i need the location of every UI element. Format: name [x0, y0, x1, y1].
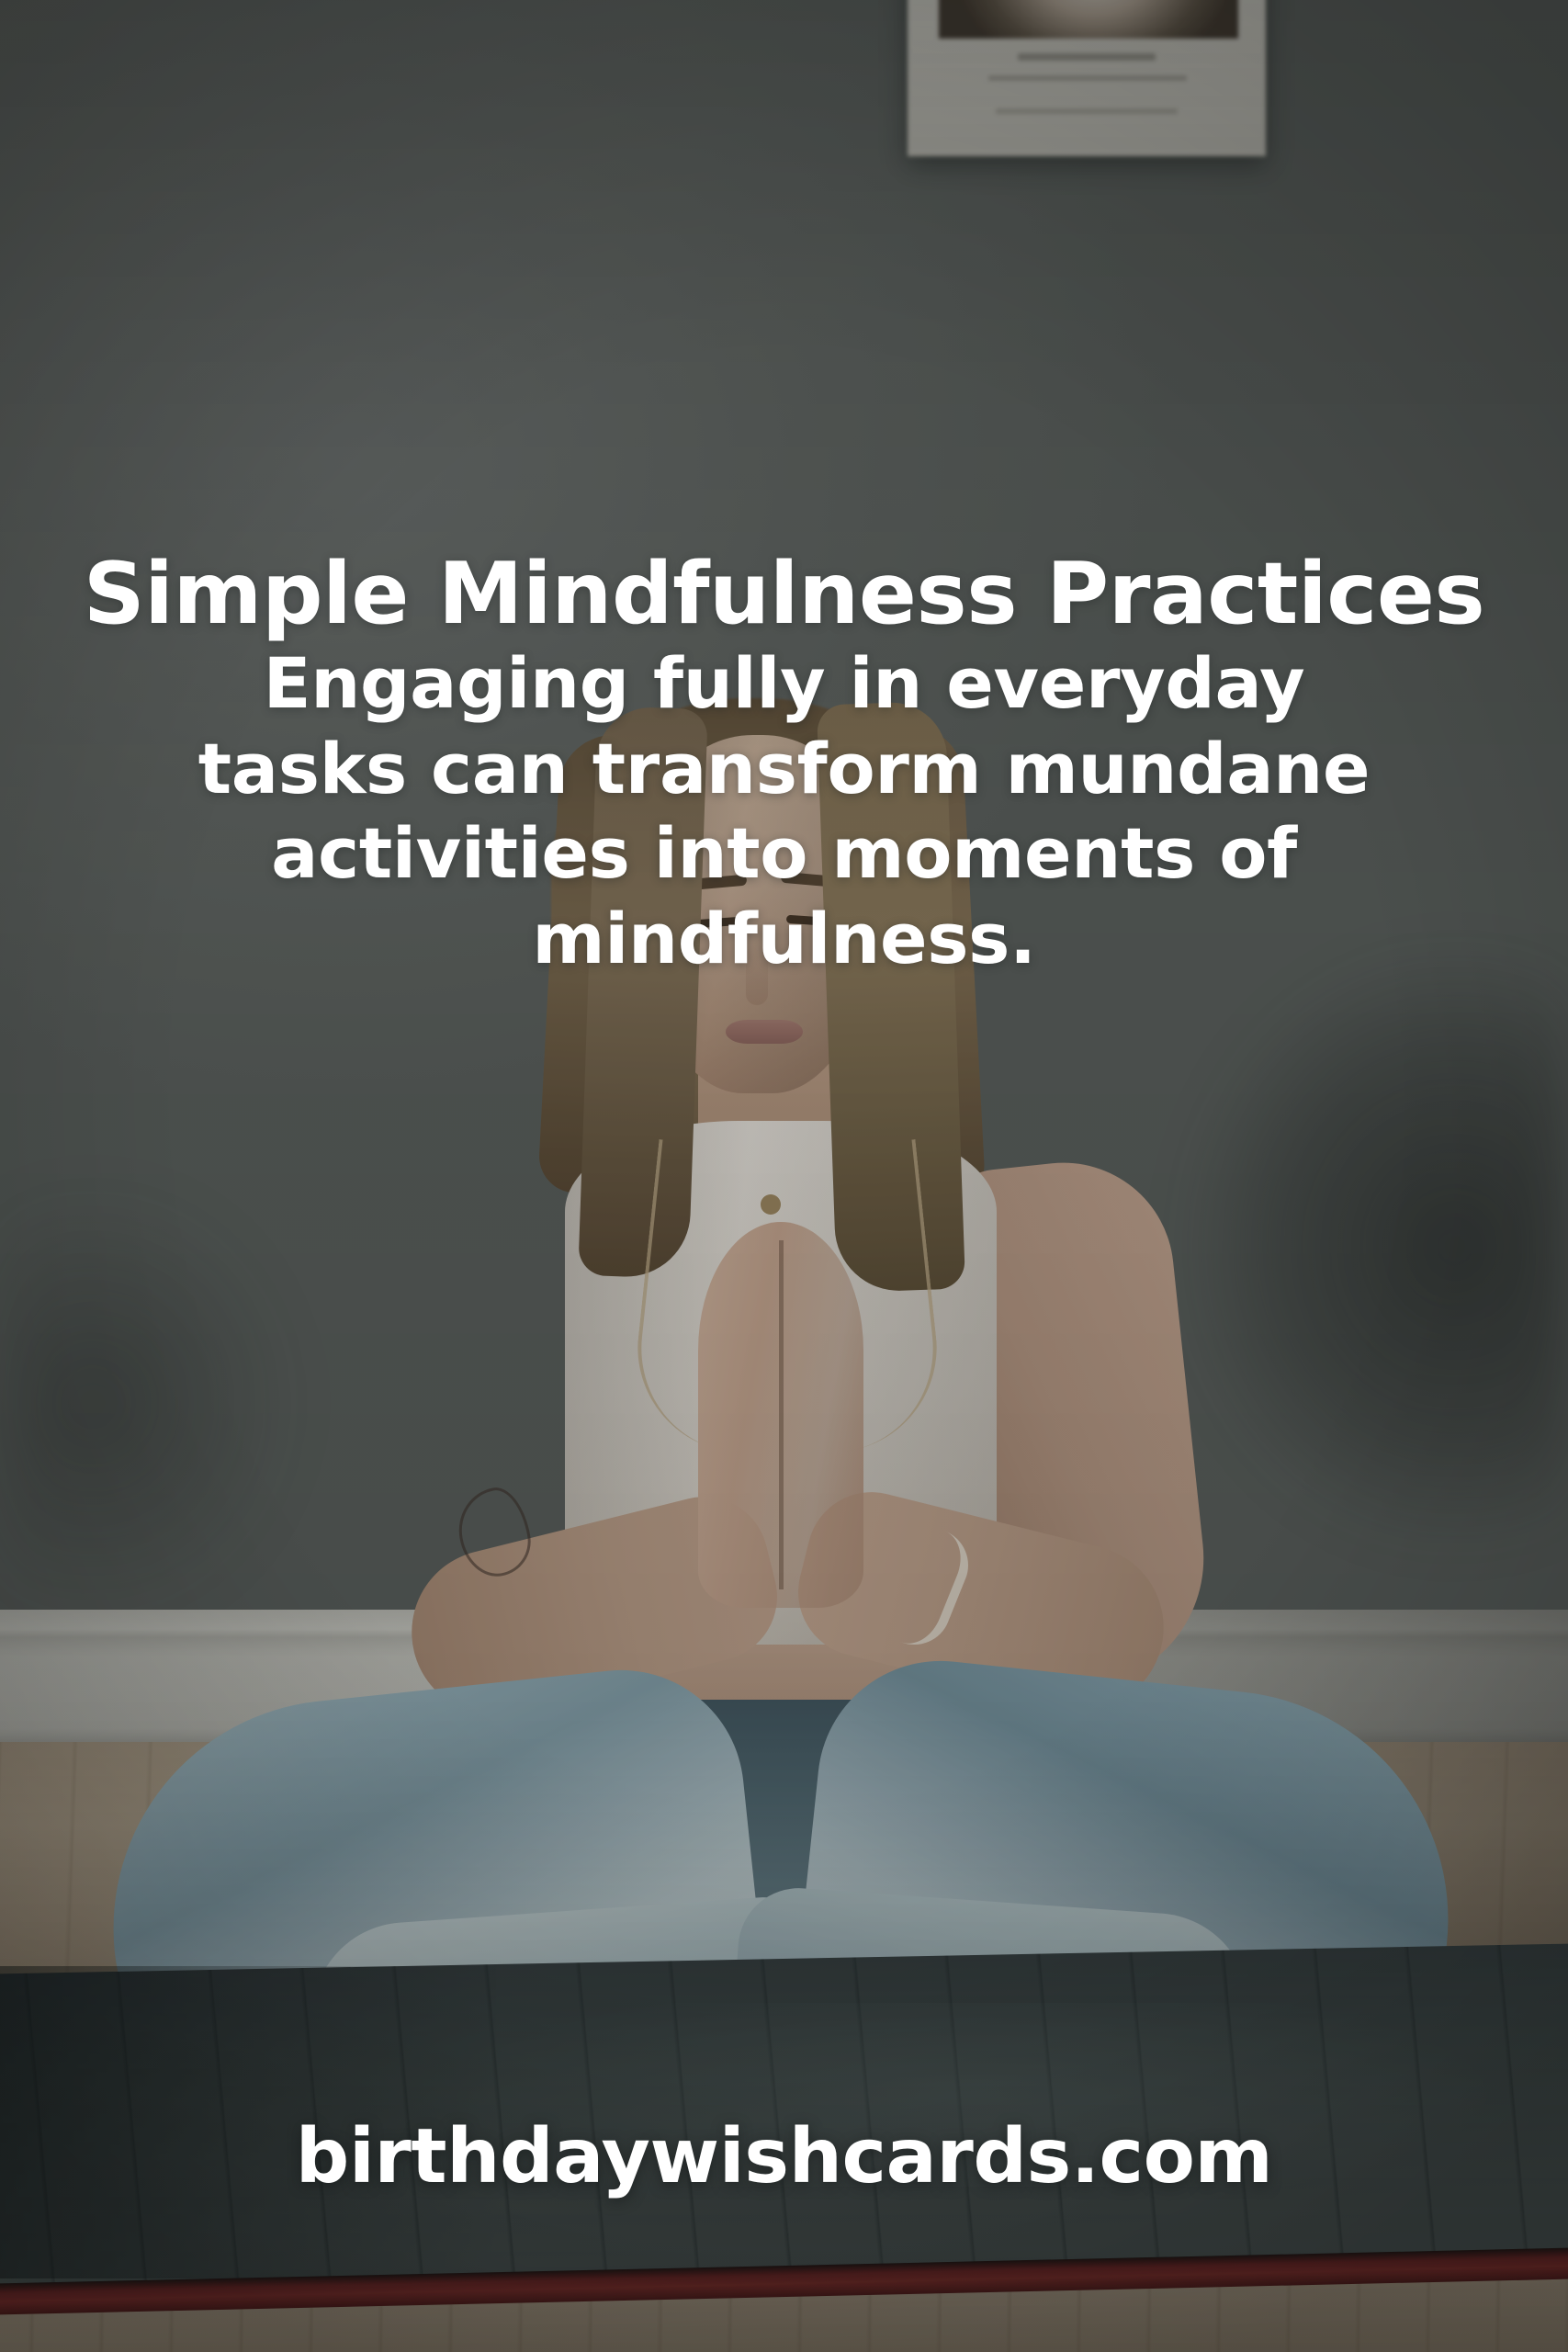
subtitle-line: tasks can transform mundane: [101, 727, 1467, 812]
quote-card: Simple Mindfulness Practices Engaging fu…: [0, 0, 1568, 2352]
subtitle-line: mindfulness.: [101, 897, 1467, 982]
text-overlay: Simple Mindfulness Practices Engaging fu…: [0, 0, 1568, 2352]
footer-website-url[interactable]: birthdaywishcards.com: [0, 2113, 1568, 2200]
subtitle-block: Engaging fully in everyday tasks can tra…: [101, 641, 1467, 982]
page-title: Simple Mindfulness Practices: [0, 549, 1568, 639]
subtitle-line: activities into moments of: [101, 811, 1467, 897]
subtitle-line: Engaging fully in everyday: [101, 641, 1467, 727]
